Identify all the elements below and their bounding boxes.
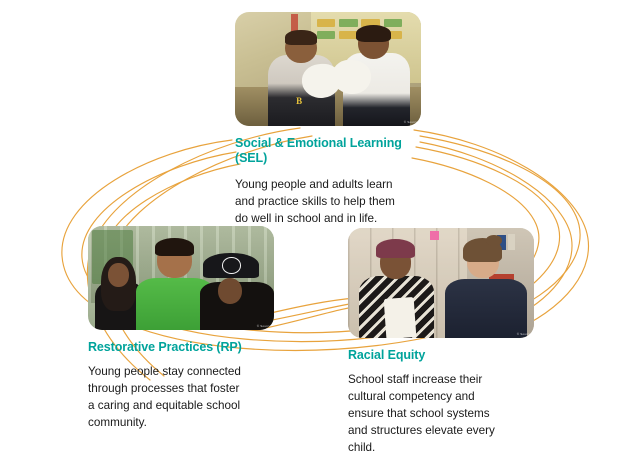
heading-line-1: Racial Equity <box>348 348 425 362</box>
photo-scene <box>348 228 534 338</box>
infographic-canvas: B © Source Social & Emotional Learning (… <box>0 0 640 461</box>
board-card <box>339 19 358 27</box>
pink-notice <box>430 231 439 240</box>
topic-block-racial-equity: © Source Racial Equity School staff incr… <box>348 228 548 456</box>
board-card <box>317 19 336 27</box>
paper-sheet <box>384 297 416 338</box>
description-line: Young people and adults learn <box>235 176 435 193</box>
student-left-hair <box>285 30 317 45</box>
board-card <box>384 19 403 27</box>
description-line: cultural competency and <box>348 388 548 405</box>
student-right-hair-bun <box>486 235 503 246</box>
photo-restorative-practices: © Source <box>88 226 274 330</box>
description-line: do well in school and in life. <box>235 210 435 227</box>
student-left-beanie <box>376 239 415 258</box>
topic-block-social-emotional-learning: B © Source Social & Emotional Learning (… <box>235 12 435 227</box>
description-line: and practice skills to help them <box>235 193 435 210</box>
photo-watermark: © Source <box>257 324 271 328</box>
photo-watermark: © Source <box>517 332 531 336</box>
student-left-face <box>108 263 128 287</box>
description-line: community. <box>88 414 288 431</box>
description-line: child. <box>348 439 548 456</box>
board-card <box>317 31 336 39</box>
photo-social-emotional-learning: B © Source <box>235 12 421 126</box>
description-line: ensure that school systems <box>348 405 548 422</box>
shelf-book <box>508 234 515 251</box>
heading-social-emotional-learning: Social & Emotional Learning (SEL) <box>235 136 435 166</box>
description-line: through processes that foster <box>88 380 288 397</box>
heading-racial-equity: Racial Equity <box>348 348 548 363</box>
description-racial-equity: School staff increase their cultural com… <box>348 371 548 456</box>
photo-watermark: © Source <box>404 120 418 124</box>
photo-scene: B <box>235 12 421 126</box>
description-line: a caring and equitable school <box>88 397 288 414</box>
student-right-face <box>218 278 242 304</box>
description-line: and structures elevate every <box>348 422 548 439</box>
description-social-emotional-learning: Young people and adults learn and practi… <box>235 176 435 227</box>
description-restorative-practices: Young people stay connected through proc… <box>88 363 288 431</box>
cap-logo <box>222 257 241 274</box>
heading-restorative-practices: Restorative Practices (RP) <box>88 340 288 355</box>
photo-scene <box>88 226 274 330</box>
topic-block-restorative-practices: © Source Restorative Practices (RP) Youn… <box>88 226 288 431</box>
shirt-logo: B <box>291 94 308 109</box>
student-center-hair <box>155 238 194 256</box>
photo-racial-equity: © Source <box>348 228 534 338</box>
student-right-hair <box>356 25 391 42</box>
heading-line-1: Social & Emotional Learning <box>235 136 402 150</box>
description-line: School staff increase their <box>348 371 548 388</box>
heading-line-2: (SEL) <box>235 151 267 165</box>
board-card <box>339 31 358 39</box>
description-line: Young people stay connected <box>88 363 288 380</box>
heading-line-1: Restorative Practices (RP) <box>88 340 242 354</box>
student-right-hoodie <box>445 279 527 338</box>
